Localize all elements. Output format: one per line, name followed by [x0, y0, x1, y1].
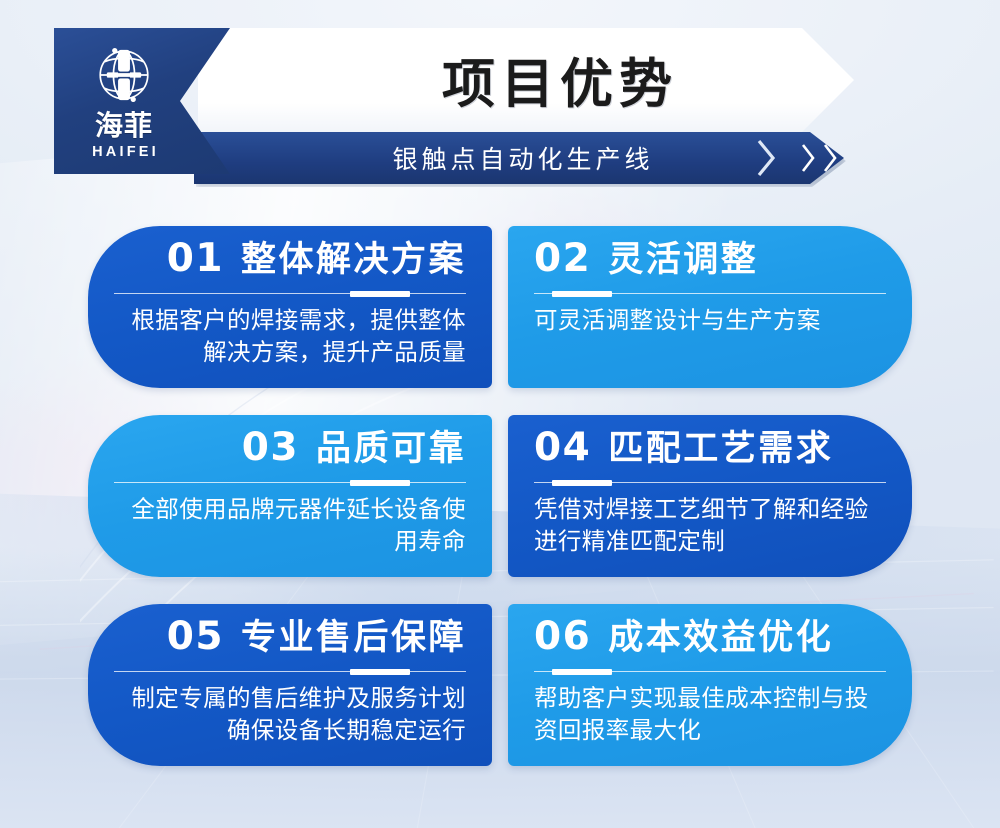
advantage-card-02[interactable]: 02 灵活调整 可灵活调整设计与生产方案: [508, 226, 912, 388]
card-title: 专业售后保障: [241, 621, 466, 656]
advantage-card-01[interactable]: 01 整体解决方案 根据客户的焊接需求，提供整体解决方案，提升产品质量: [88, 226, 492, 388]
card-title: 成本效益优化: [608, 621, 833, 656]
logo-english-name: HAIFEI: [92, 145, 159, 160]
advantage-card-grid: 01 整体解决方案 根据客户的焊接需求，提供整体解决方案，提升产品质量 02 灵…: [88, 226, 912, 766]
card-description: 帮助客户实现最佳成本控制与投资回报率最大化: [534, 683, 886, 747]
globe-h-logo-icon: [91, 42, 157, 108]
card-title: 整体解决方案: [241, 243, 466, 278]
card-description: 制定专属的售后维护及服务计划确保设备长期稳定运行: [114, 683, 466, 747]
card-number: 04: [534, 428, 591, 467]
card-number: 06: [534, 617, 591, 656]
poster-canvas: 海菲 HAIFEI 项目优势 银触点自动化生产线 01 整体解决方案: [0, 0, 1000, 828]
advantage-card-05[interactable]: 05 专业售后保障 制定专属的售后维护及服务计划确保设备长期稳定运行: [88, 604, 492, 766]
card-header: 05 专业售后保障: [167, 617, 466, 656]
card-header: 04 匹配工艺需求: [534, 428, 833, 467]
card-number: 05: [167, 617, 224, 656]
card-divider: [114, 667, 466, 677]
card-description: 凭借对焊接工艺细节了解和经验进行精准匹配定制: [534, 494, 886, 558]
card-description: 可灵活调整设计与生产方案: [534, 305, 821, 337]
card-header: 01 整体解决方案: [167, 239, 466, 278]
card-divider: [114, 289, 466, 299]
card-header: 06 成本效益优化: [534, 617, 833, 656]
card-number: 01: [167, 239, 224, 278]
card-description: 全部使用品牌元器件延长设备使用寿命: [114, 494, 466, 558]
card-header: 02 灵活调整: [534, 239, 758, 278]
card-title: 匹配工艺需求: [608, 432, 833, 467]
double-chevron-right-icon: [754, 132, 864, 184]
card-number: 03: [242, 428, 299, 467]
logo-chinese-name: 海菲: [95, 112, 153, 140]
card-divider: [534, 289, 886, 299]
card-divider: [114, 478, 466, 488]
card-header: 03 品质可靠: [242, 428, 466, 467]
page-subtitle: 银触点自动化生产线: [308, 132, 738, 184]
card-divider: [534, 667, 886, 677]
advantage-card-04[interactable]: 04 匹配工艺需求 凭借对焊接工艺细节了解和经验进行精准匹配定制: [508, 415, 912, 577]
advantage-card-03[interactable]: 03 品质可靠 全部使用品牌元器件延长设备使用寿命: [88, 415, 492, 577]
header-banner: 海菲 HAIFEI 项目优势 银触点自动化生产线: [54, 28, 854, 174]
page-title: 项目优势: [330, 40, 790, 120]
card-description: 根据客户的焊接需求，提供整体解决方案，提升产品质量: [114, 305, 466, 369]
card-title: 灵活调整: [608, 243, 758, 278]
advantage-card-06[interactable]: 06 成本效益优化 帮助客户实现最佳成本控制与投资回报率最大化: [508, 604, 912, 766]
card-number: 02: [534, 239, 591, 278]
card-divider: [534, 478, 886, 488]
card-title: 品质可靠: [316, 432, 466, 467]
